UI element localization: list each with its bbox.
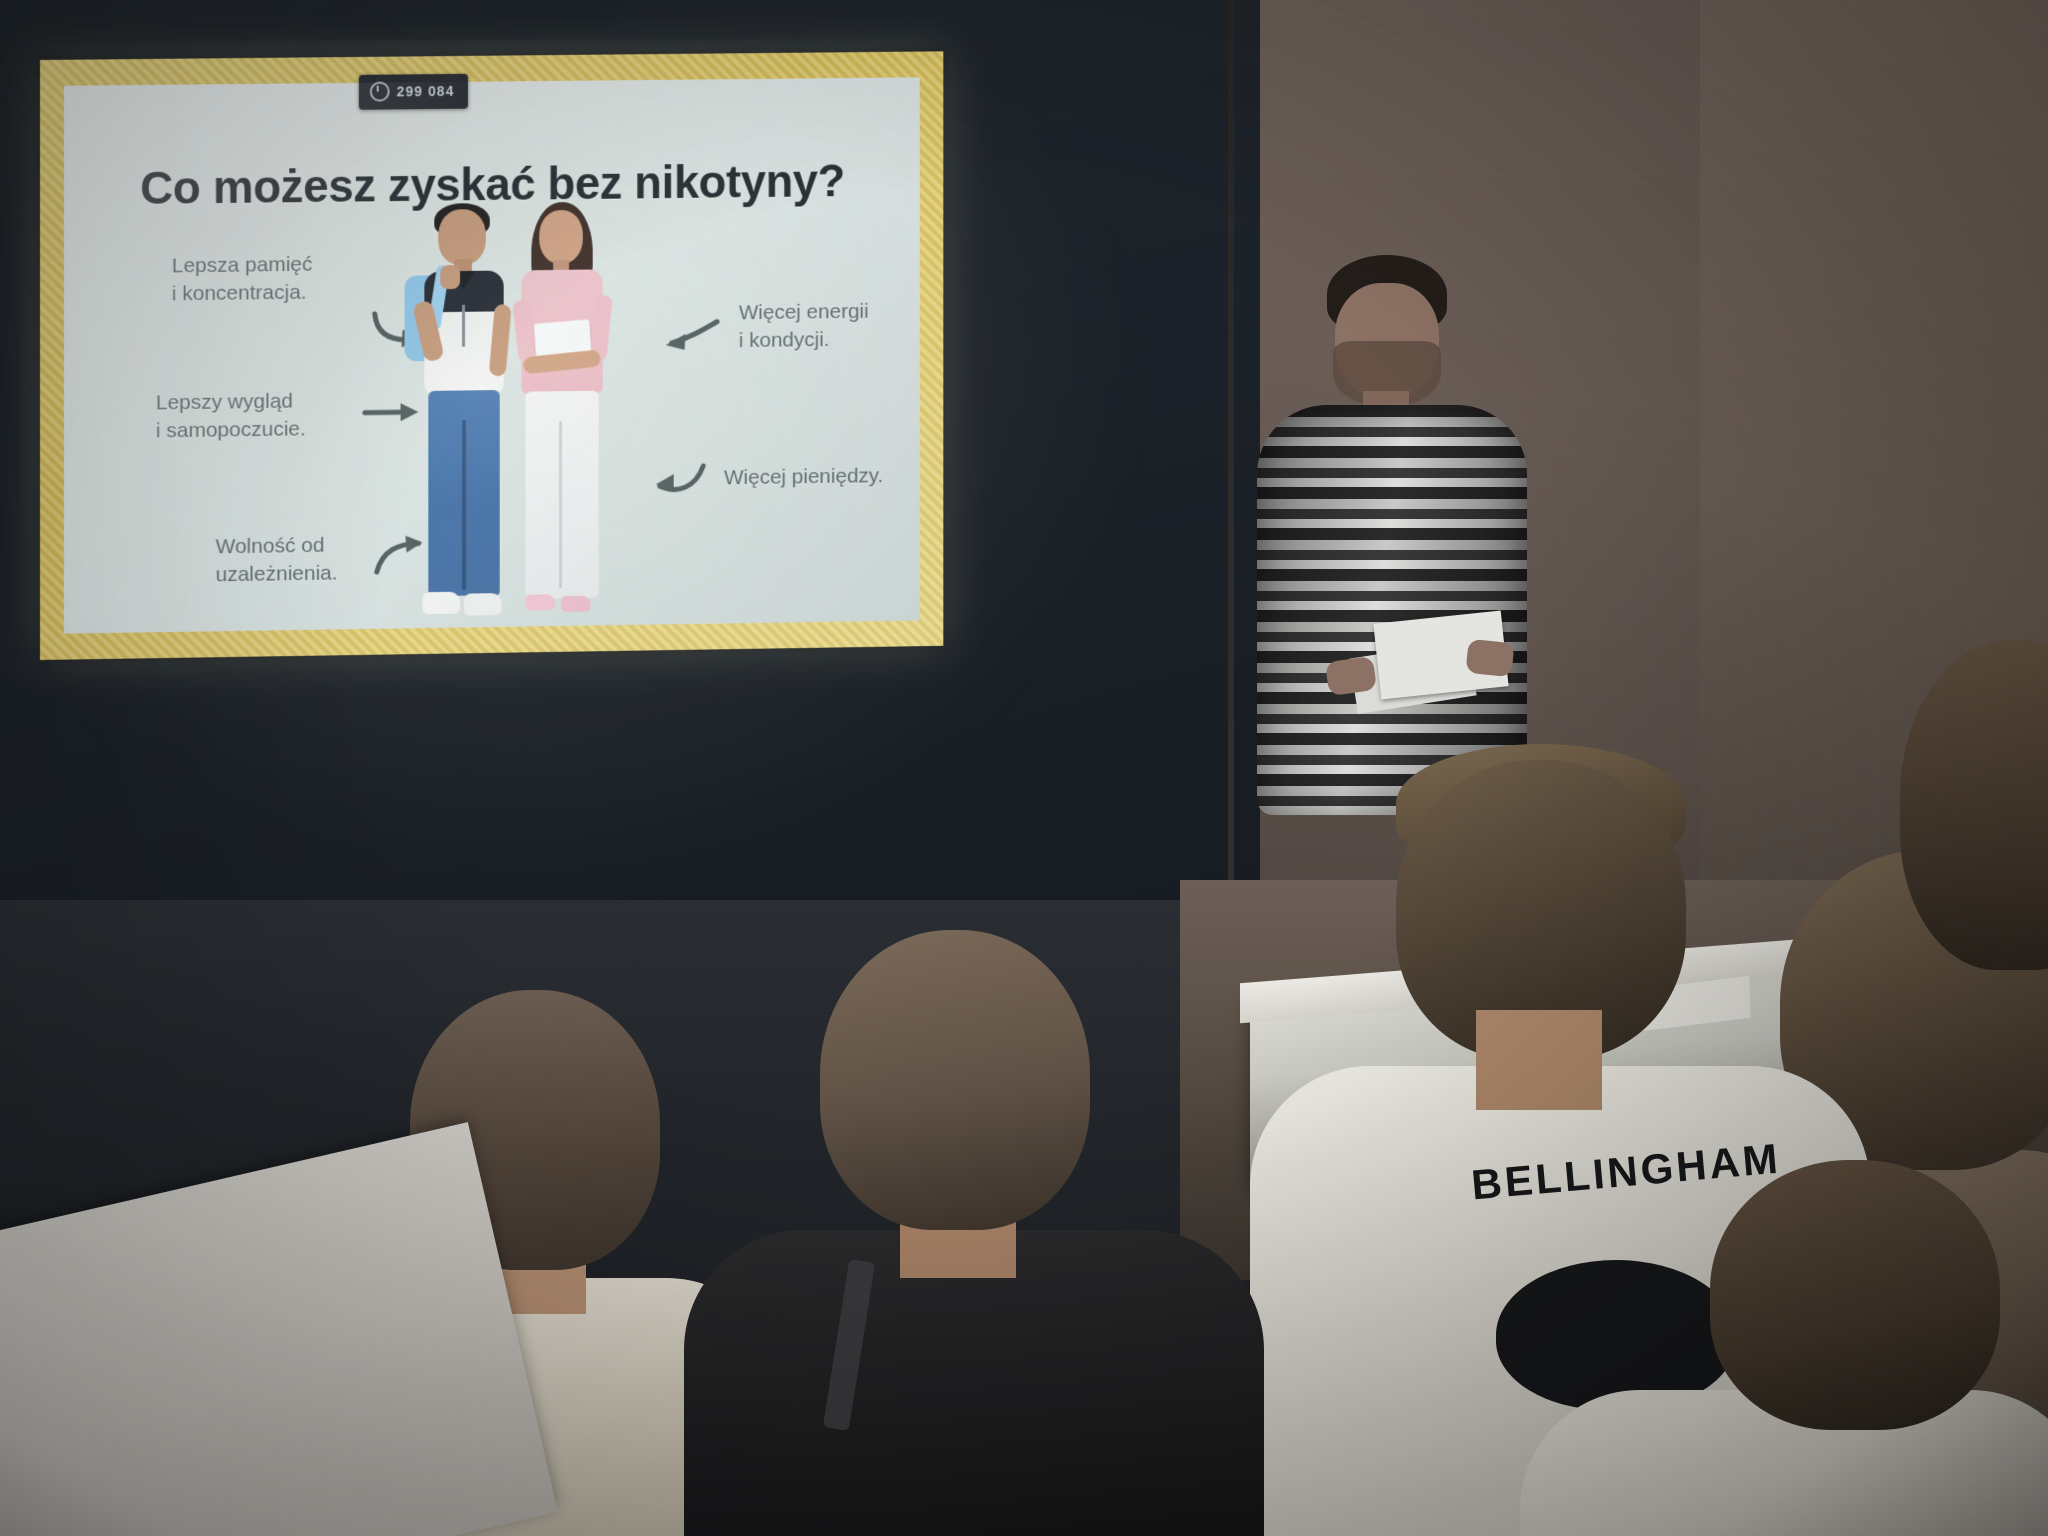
- student-head: [820, 930, 1090, 1230]
- benefit-energy-label: Więcej energii i kondycji.: [739, 297, 921, 355]
- slide-content-area: 299 084 Co możesz zyskać bez nikotyny? L…: [64, 77, 920, 633]
- presenter-right-hand: [1465, 639, 1514, 678]
- boy-leg-split: [462, 420, 466, 589]
- photo-figure-girl: [506, 204, 617, 627]
- student-head: [1900, 640, 2048, 970]
- projected-slide: 299 084 Co możesz zyskać bez nikotyny? L…: [40, 51, 943, 660]
- boy-hand: [440, 265, 460, 289]
- wall-seam: [1228, 0, 1234, 1010]
- presenter: [1235, 255, 1555, 815]
- student-head: [1710, 1160, 2000, 1430]
- slide-photo-teenagers: [403, 197, 631, 628]
- clock-icon: [370, 82, 390, 102]
- arrow-left-icon: [660, 316, 721, 353]
- student-neck: [1476, 1010, 1602, 1110]
- student-front-center: [740, 930, 1210, 1536]
- girl-leg-split: [559, 421, 562, 588]
- photo-figure-boy: [410, 209, 519, 629]
- girl-left-shoe: [525, 594, 555, 610]
- curved-arrow-left-icon: [652, 462, 709, 501]
- girl-right-shoe: [561, 596, 591, 612]
- benefit-appearance-label: Lepszy wygląd i samopoczucie.: [156, 387, 370, 446]
- girl-face: [543, 220, 579, 264]
- slide-counter-badge: 299 084: [359, 74, 468, 110]
- classroom-photo: 299 084 Co możesz zyskać bez nikotyny? L…: [0, 0, 2048, 1536]
- benefit-memory-label: Lepsza pamięć i koncentracja.: [172, 250, 381, 309]
- boy-left-shoe: [422, 592, 460, 614]
- boy-placket: [462, 305, 465, 347]
- student-right-front: [1560, 1160, 2048, 1536]
- boy-right-shoe: [464, 593, 502, 615]
- counter-value: 299 084: [397, 83, 455, 100]
- boy-head: [438, 209, 486, 265]
- student-edge-right: [1900, 640, 2048, 1060]
- benefit-money-label: Więcej pieniędzy.: [724, 462, 921, 493]
